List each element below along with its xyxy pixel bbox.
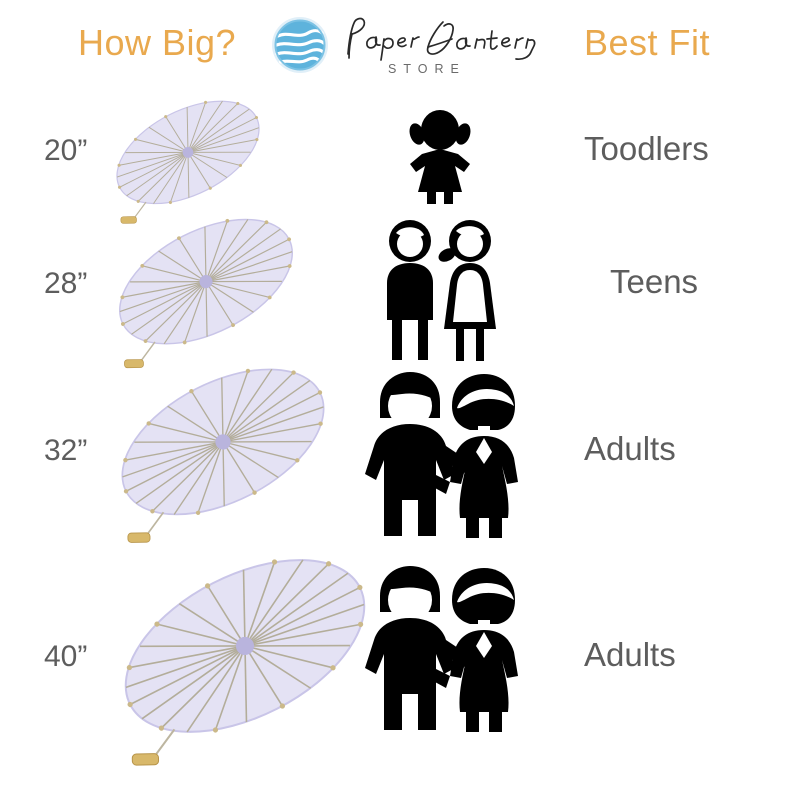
how-big-heading: How Big?: [78, 22, 236, 64]
brand-script-text: [340, 12, 538, 64]
header: How Big?: [0, 0, 800, 100]
fit-label-adults-32: Adults: [584, 430, 676, 468]
adult-couple-pictogram: [358, 368, 526, 540]
size-label-40: 40”: [44, 640, 87, 674]
teen-couple-pictogram: [378, 217, 504, 361]
size-guide-infographic: How Big?: [0, 0, 800, 800]
teen-boy: [387, 220, 433, 360]
size-label-28: 28”: [44, 267, 87, 301]
row-32-inch: 32”: [0, 352, 800, 552]
parasol-20-inch: [104, 90, 272, 222]
toddler-girl-pictogram: [392, 106, 488, 202]
size-label-32: 32”: [44, 434, 87, 468]
size-label-20: 20”: [44, 134, 87, 168]
fit-label-adults-40: Adults: [584, 636, 676, 674]
fit-label-teens: Teens: [610, 263, 698, 301]
adult-couple-pictogram: [358, 560, 526, 736]
brand-logo: STORE: [268, 12, 538, 90]
row-40-inch: 40”: [0, 540, 800, 790]
paper-lantern-logo-icon: [268, 14, 332, 78]
parasol-32-inch: [104, 352, 342, 542]
brand-wordmark: STORE: [340, 12, 538, 90]
row-20-inch: 20”: [0, 90, 800, 220]
fit-label-toodlers: Toodlers: [584, 130, 709, 168]
brand-subtitle: STORE: [388, 62, 466, 76]
parasol-28-inch: [104, 205, 308, 367]
best-fit-heading: Best Fit: [584, 22, 710, 64]
row-28-inch: 28”: [0, 205, 800, 370]
parasol-40-inch: [104, 540, 386, 764]
teen-girl: [436, 220, 496, 361]
